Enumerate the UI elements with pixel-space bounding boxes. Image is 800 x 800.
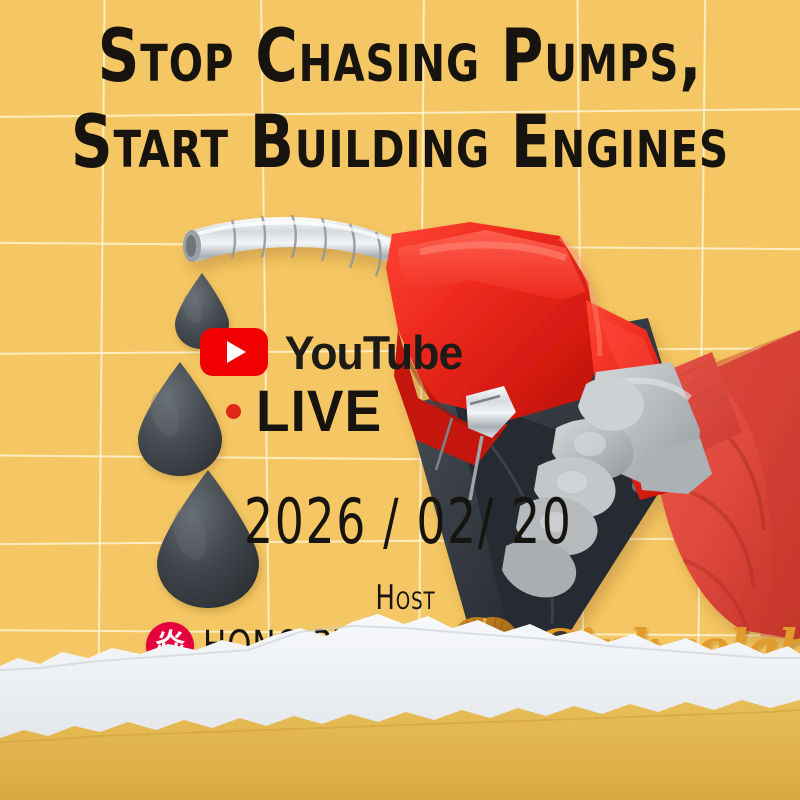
headline-line-1: Stop Chasing Pumps, xyxy=(48,22,752,92)
headline: Stop Chasing Pumps, Start Building Engin… xyxy=(0,22,800,178)
headline-line-2: Start Building Engines xyxy=(48,108,752,178)
event-date: 2026 / 02/ 20 xyxy=(244,485,572,558)
live-dot-icon xyxy=(226,404,241,419)
live-label: LIVE xyxy=(256,382,382,440)
youtube-logo-row: YouTube xyxy=(200,328,467,376)
youtube-live-badge: YouTube LIVE xyxy=(200,328,467,439)
gloved-hand-icon xyxy=(502,362,712,597)
torn-paper-edge xyxy=(0,610,800,800)
live-row: LIVE xyxy=(226,384,467,439)
poster-canvas: Stop Chasing Pumps, Start Building Engin… xyxy=(0,0,800,800)
puffer-sleeve-icon xyxy=(655,330,800,640)
nozzle-spout-icon xyxy=(183,215,404,276)
youtube-play-icon xyxy=(200,328,268,376)
youtube-wordmark: YouTube xyxy=(285,329,463,376)
sleeve-cuff xyxy=(640,352,742,466)
